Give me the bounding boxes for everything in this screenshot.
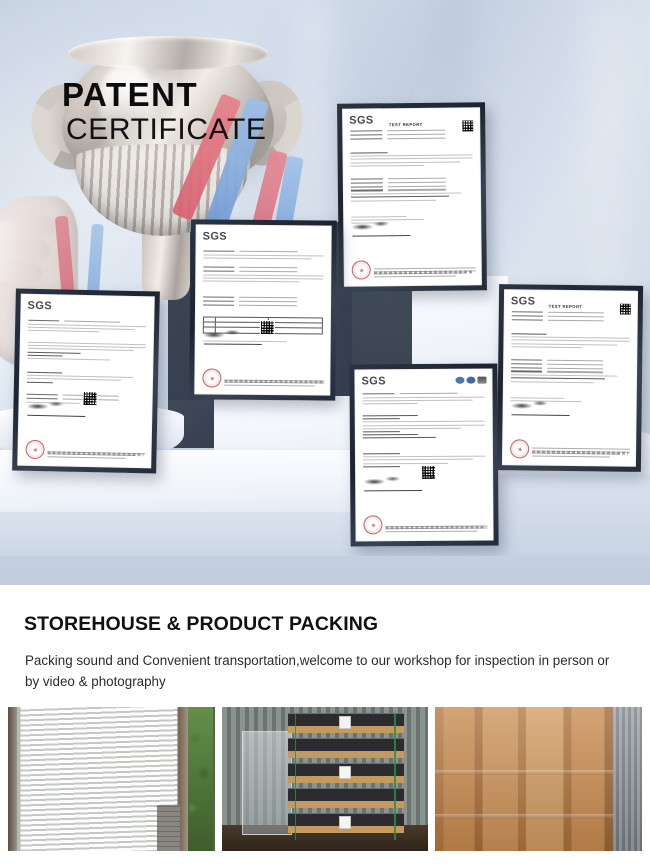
signature-mark — [27, 398, 73, 413]
hero-bottom-band — [0, 556, 650, 585]
section-subtitle: Packing sound and Convenient transportat… — [25, 651, 625, 693]
certificate-frame-bottom-left[interactable]: SGS — [12, 289, 160, 474]
signature-mark — [364, 473, 410, 487]
door-jamb-left — [8, 707, 17, 851]
patent-certificate-hero: PATENT CERTIFICATE SGS TEST REPORT — [0, 0, 650, 585]
official-stamp-icon — [202, 368, 221, 387]
hero-title-certificate: CERTIFICATE — [66, 113, 267, 147]
signature-rule — [27, 415, 85, 417]
official-stamp-icon — [510, 439, 529, 458]
shipping-label — [339, 816, 351, 829]
shrink-wrapped-stack — [242, 731, 292, 835]
certificate-frame-mid-left[interactable]: SGS — [189, 219, 337, 400]
document-title: TEST REPORT — [549, 304, 583, 309]
certificate-frame-right[interactable]: SGS TEST REPORT — [497, 284, 643, 472]
accreditation-badge-icon — [466, 377, 475, 384]
photo-shading — [435, 707, 642, 851]
packing-photo-strip — [8, 707, 642, 851]
section-title: STOREHOUSE & PRODUCT PACKING — [24, 613, 378, 636]
photo-palletized-goods[interactable] — [222, 707, 429, 851]
certificate-frame-bottom-center[interactable]: SGS — [349, 363, 498, 546]
certificate-paper: SGS TEST REPORT — [342, 107, 482, 286]
certificate-paper: SGS — [354, 369, 493, 542]
certificate-paper: SGS — [17, 294, 155, 469]
green-strap — [295, 713, 297, 840]
certificate-frame-top-center[interactable]: SGS TEST REPORT — [337, 102, 487, 292]
sgs-logo: SGS — [361, 375, 386, 387]
sgs-logo: SGS — [511, 295, 536, 307]
qr-code-icon — [421, 465, 436, 480]
certificate-paper: SGS — [194, 224, 331, 395]
official-stamp-icon — [25, 440, 44, 459]
signature-rule — [364, 490, 422, 491]
signature-rule — [204, 343, 262, 345]
accreditation-badge-icon — [455, 377, 464, 384]
sgs-logo: SGS — [203, 230, 228, 242]
document-title: TEST REPORT — [389, 122, 423, 127]
qr-code-icon — [83, 391, 98, 406]
photo-fabric-rolls[interactable] — [8, 707, 215, 851]
storehouse-packing-section: STOREHOUSE & PRODUCT PACKING Packing sou… — [0, 585, 650, 864]
pallet — [288, 738, 404, 758]
green-strap — [394, 713, 396, 840]
hero-heading: PATENT CERTIFICATE — [62, 78, 267, 147]
pallet-stack — [288, 713, 404, 840]
signature-mark — [352, 218, 398, 232]
official-stamp-icon — [363, 515, 382, 534]
certificate-paper: SGS TEST REPORT — [502, 289, 638, 467]
official-stamp-icon — [352, 260, 371, 279]
hero-title-patent: PATENT — [62, 78, 267, 111]
signature-mark — [204, 326, 250, 340]
sgs-logo: SGS — [27, 300, 52, 313]
door-jamb-right — [180, 707, 188, 851]
accreditation-badge-icon — [477, 377, 486, 384]
signature-mark — [512, 397, 558, 412]
product-detail-page: PATENT CERTIFICATE SGS TEST REPORT — [0, 0, 650, 864]
qr-code-icon — [260, 320, 275, 335]
shipping-label — [339, 766, 351, 779]
signature-rule — [352, 235, 410, 237]
trophy-rim — [68, 36, 268, 70]
signature-rule — [512, 414, 570, 416]
sgs-logo: SGS — [349, 114, 374, 126]
accreditation-logos — [455, 377, 486, 384]
shipping-label — [339, 716, 351, 729]
pallet — [288, 788, 404, 808]
photo-kraft-paper-rolls[interactable] — [435, 707, 642, 851]
